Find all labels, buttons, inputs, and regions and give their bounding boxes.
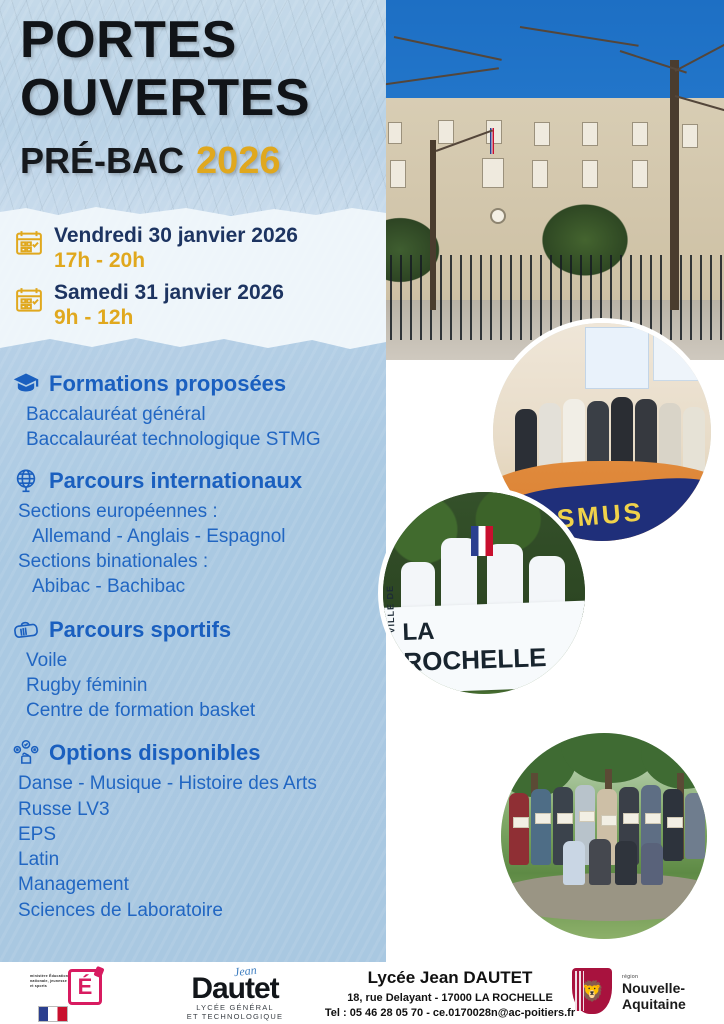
ministry-logo-lines: ministère Éducation nationale, jeunesse … bbox=[30, 974, 70, 990]
dates-block: Vendredi 30 janvier 2026 17h - 20h Samed… bbox=[14, 224, 374, 339]
subtitle-row: PRÉ-BAC 2026 bbox=[20, 140, 310, 183]
french-flag-icon bbox=[38, 1006, 68, 1022]
poster-subtitle: PRÉ-BAC bbox=[20, 140, 184, 182]
list-item: Rugby féminin bbox=[26, 673, 384, 698]
section-header: Options disponibles bbox=[12, 739, 384, 767]
date-time: 9h - 12h bbox=[54, 305, 284, 330]
list-item: Russe LV3 bbox=[18, 797, 384, 822]
poster-year: 2026 bbox=[196, 140, 281, 183]
options-check-icon bbox=[12, 739, 40, 767]
banner-rochelle-text: ROCHELLE bbox=[403, 642, 547, 678]
school-name: Lycée Jean DAUTET bbox=[300, 968, 600, 988]
list-item: Abibac - Bachibac bbox=[18, 574, 384, 599]
la-rochelle-sport-photo: VILLE DE LA ROCHELLE bbox=[378, 487, 590, 699]
sections-block: Formations proposées Baccalauréat généra… bbox=[12, 370, 384, 928]
section-header: Parcours internationaux bbox=[12, 467, 384, 495]
section-title: Options disponibles bbox=[49, 740, 260, 766]
school-address: 18, rue Delayant - 17000 LA ROCHELLE bbox=[300, 992, 600, 1004]
region-name-line2: Aquitaine bbox=[622, 996, 686, 1012]
la-rochelle-banner: VILLE DE LA ROCHELLE bbox=[378, 600, 590, 694]
lycee-building-photo bbox=[370, 0, 724, 360]
list-item: Voile bbox=[26, 648, 384, 673]
date-day: Samedi 31 janvier 2026 bbox=[54, 281, 284, 305]
date-row: Vendredi 30 janvier 2026 17h - 20h bbox=[14, 224, 374, 273]
section-parcours-sportifs: Parcours sportifs Voile Rugby féminin Ce… bbox=[12, 616, 384, 724]
contact-block: Lycée Jean DAUTET 18, rue Delayant - 170… bbox=[300, 968, 600, 1019]
list-item: Sciences de Laboratoire bbox=[18, 898, 384, 923]
ministry-letter-icon: É bbox=[68, 969, 102, 1005]
section-parcours-internationaux: Parcours internationaux Sections europée… bbox=[12, 467, 384, 600]
title-line-1: PORTES bbox=[20, 14, 310, 66]
section-header: Parcours sportifs bbox=[12, 616, 384, 644]
list-item: Sections binationales : bbox=[18, 549, 384, 574]
school-logo: Jean Dautet LYCÉE GÉNÉRAL ET TECHNOLOGIQ… bbox=[160, 964, 310, 1022]
region-name-line1: Nouvelle- bbox=[622, 980, 685, 996]
date-day: Vendredi 30 janvier 2026 bbox=[54, 224, 298, 248]
list-item: Baccalauréat général bbox=[26, 402, 384, 427]
school-phone-email[interactable]: Tel : 05 46 28 05 70 - ce.0170028n@ac-po… bbox=[300, 1007, 600, 1019]
list-item: Sections européennes : bbox=[18, 499, 384, 524]
lion-shield-icon: 🦁 bbox=[572, 968, 612, 1014]
date-row: Samedi 31 janvier 2026 9h - 12h bbox=[14, 281, 374, 330]
graduation-group-photo bbox=[496, 728, 712, 944]
graduation-cap-icon bbox=[12, 370, 40, 398]
list-item: Danse - Musique - Histoire des Arts bbox=[18, 771, 384, 796]
french-flag-icon bbox=[471, 526, 493, 556]
section-formations: Formations proposées Baccalauréat généra… bbox=[12, 370, 384, 453]
section-list: Danse - Musique - Histoire des Arts Russ… bbox=[12, 771, 384, 923]
section-options: Options disponibles Danse - Musique - Hi… bbox=[12, 739, 384, 923]
school-logo-name: Dautet bbox=[160, 972, 310, 1006]
section-title: Parcours internationaux bbox=[49, 468, 302, 494]
list-item: Baccalauréat technologique STMG bbox=[26, 427, 384, 452]
erasmus-poster-board bbox=[585, 327, 649, 389]
region-logo: 🦁 région Nouvelle- Aquitaine bbox=[572, 968, 712, 1018]
section-header: Formations proposées bbox=[12, 370, 384, 398]
footer: ministère Éducation nationale, jeunesse … bbox=[0, 962, 724, 1024]
section-list: Baccalauréat général Baccalauréat techno… bbox=[12, 402, 384, 453]
school-logo-sub2: ET TECHNOLOGIQUE bbox=[160, 1012, 310, 1021]
calendar-check-icon bbox=[14, 228, 44, 258]
sail-icon bbox=[560, 618, 590, 671]
section-title: Formations proposées bbox=[49, 371, 286, 397]
list-item: Management bbox=[18, 872, 384, 897]
list-item: Latin bbox=[18, 847, 384, 872]
ministry-logo: ministère Éducation nationale, jeunesse … bbox=[30, 966, 126, 1022]
list-item: EPS bbox=[18, 822, 384, 847]
banner-ville-text: VILLE DE bbox=[385, 585, 397, 634]
title-line-2: OUVERTES bbox=[20, 72, 310, 124]
section-list: Voile Rugby féminin Centre de formation … bbox=[12, 648, 384, 724]
poster-root: PORTES OUVERTES PRÉ-BAC 2026 Vendredi 30… bbox=[0, 0, 724, 1024]
erasmus-poster-board-2 bbox=[653, 333, 711, 381]
calendar-check-icon bbox=[14, 285, 44, 315]
date-time: 17h - 20h bbox=[54, 248, 298, 273]
list-item: Centre de formation basket bbox=[26, 698, 384, 723]
globe-icon bbox=[12, 467, 40, 495]
list-item: Allemand - Anglais - Espagnol bbox=[18, 524, 384, 549]
section-title: Parcours sportifs bbox=[49, 617, 231, 643]
poster-title-block: PORTES OUVERTES PRÉ-BAC 2026 bbox=[20, 14, 310, 183]
banner-la-text: LA bbox=[402, 618, 435, 647]
sports-bag-icon bbox=[12, 616, 40, 644]
section-list: Sections européennes : Allemand - Anglai… bbox=[12, 499, 384, 600]
